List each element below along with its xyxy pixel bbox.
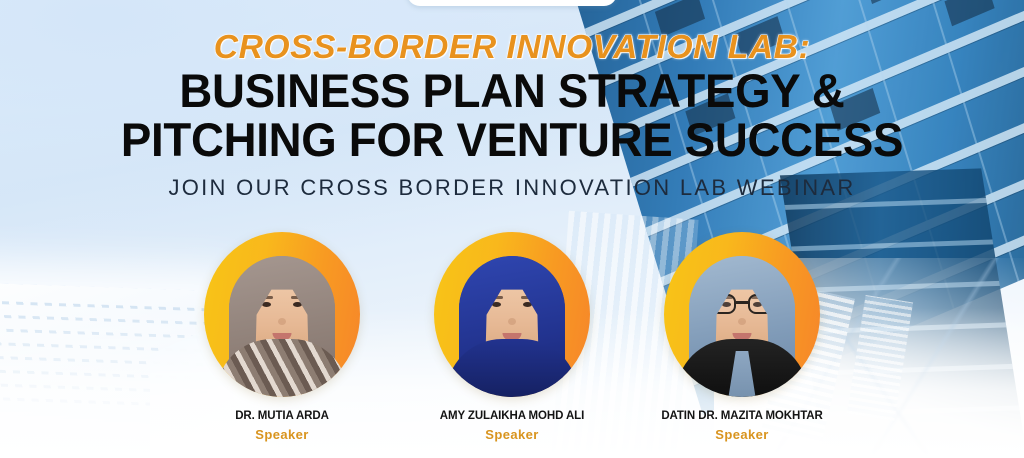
speaker-name: DR. MUTIA ARDA <box>198 410 366 422</box>
speaker-name: DATIN DR. MAZITA MOKHTAR <box>658 410 826 422</box>
avatar <box>664 232 820 397</box>
speaker-role: Speaker <box>658 427 826 442</box>
headline-line-2: PITCHING FOR VENTURE SUCCESS <box>15 115 1008 164</box>
webinar-banner: CROSS-BORDER INNOVATION LAB: BUSINESS PL… <box>0 0 1024 458</box>
portrait-illustration <box>434 232 590 397</box>
speaker-card-1: DR. MUTIA ARDA Speaker <box>198 232 366 442</box>
speaker-role: Speaker <box>428 427 596 442</box>
page-title: BUSINESS PLAN STRATEGY & PITCHING FOR VE… <box>15 66 1008 164</box>
avatar <box>434 232 590 397</box>
subtitle: JOIN OUR CROSS BORDER INNOVATION LAB WEB… <box>0 175 1024 201</box>
speaker-card-2: AMY ZULAIKHA MOHD ALI Speaker <box>428 232 596 442</box>
speaker-card-3: DATIN DR. MAZITA MOKHTAR Speaker <box>658 232 826 442</box>
eyebrow-title: CROSS-BORDER INNOVATION LAB: <box>0 28 1024 66</box>
portrait-illustration <box>204 232 360 397</box>
banner-content: CROSS-BORDER INNOVATION LAB: BUSINESS PL… <box>0 0 1024 458</box>
speaker-list: DR. MUTIA ARDA Speaker AM <box>0 232 1024 442</box>
avatar <box>204 232 360 397</box>
headline-line-1: BUSINESS PLAN STRATEGY & <box>15 66 1008 115</box>
speaker-name: AMY ZULAIKHA MOHD ALI <box>428 410 596 422</box>
portrait-illustration <box>664 232 820 397</box>
speaker-role: Speaker <box>198 427 366 442</box>
